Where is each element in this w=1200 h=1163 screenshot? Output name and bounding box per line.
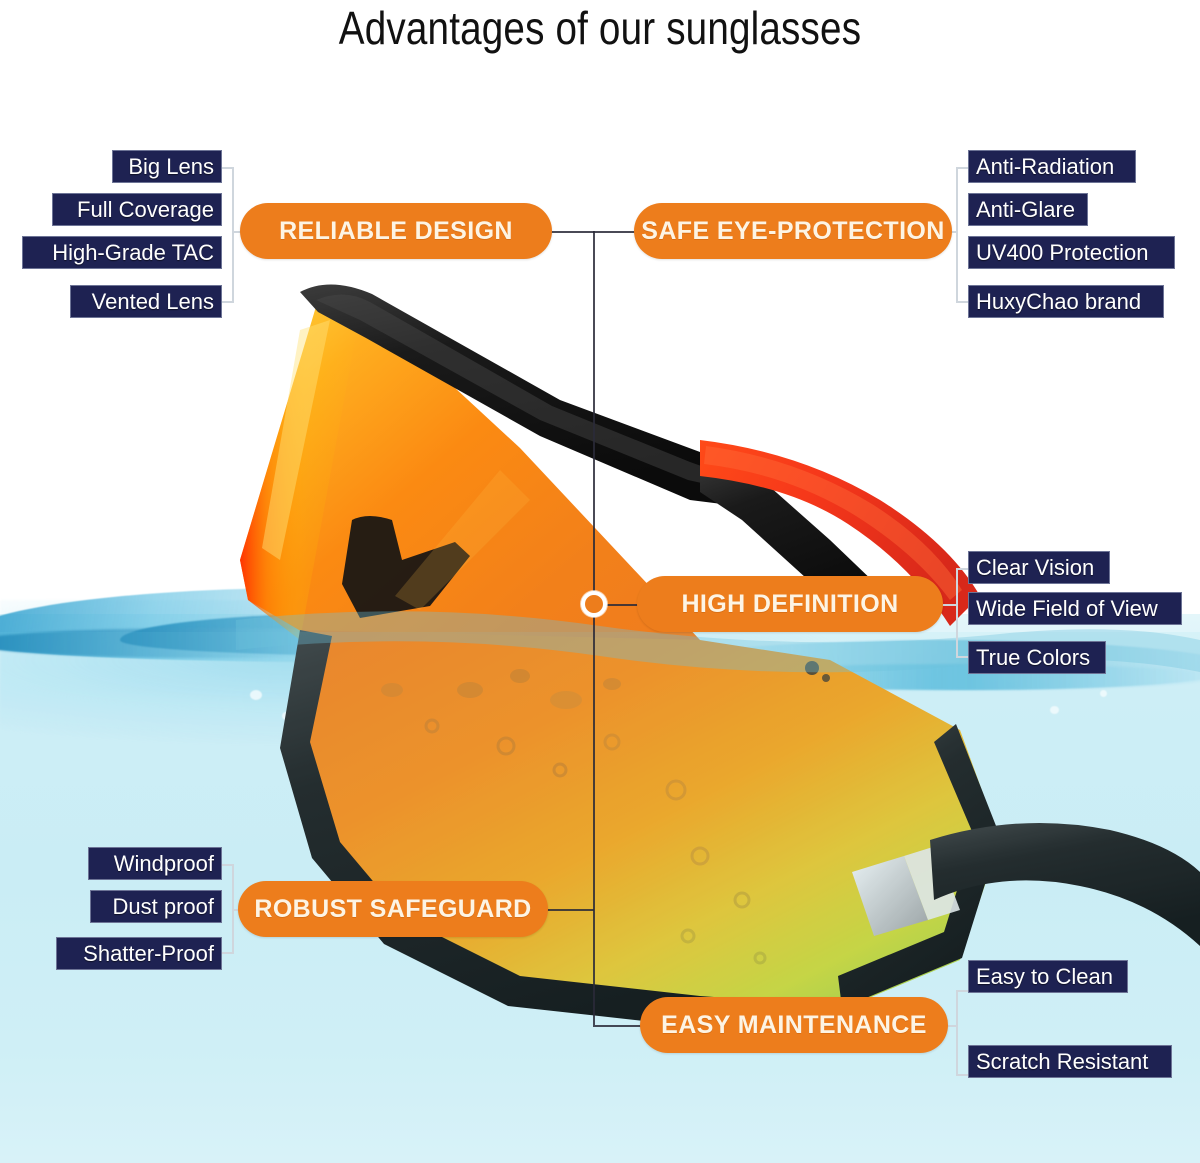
feature-chip-true-colors[interactable]: True Colors [968, 641, 1106, 674]
feature-chip-wide-field-of-view[interactable]: Wide Field of View [968, 592, 1182, 625]
bubble [355, 728, 365, 737]
feature-chip-clear-vision[interactable]: Clear Vision [968, 551, 1110, 584]
feature-chip-uv400-protection[interactable]: UV400 Protection [968, 236, 1175, 269]
pill-easy-maintenance[interactable]: EASY MAINTENANCE [640, 997, 948, 1053]
bracket-robust-safeguard [222, 864, 234, 954]
bracket-stub-high-definition [942, 604, 956, 606]
bubble [250, 690, 262, 700]
feature-chip-dust-proof[interactable]: Dust proof [90, 890, 222, 923]
pill-high-definition[interactable]: HIGH DEFINITION [637, 576, 943, 632]
bubble [1100, 690, 1107, 697]
feature-chip-windproof[interactable]: Windproof [88, 847, 222, 880]
feature-chip-shatter-proof[interactable]: Shatter-Proof [56, 937, 222, 970]
feature-chip-high-grade-tac[interactable]: High-Grade TAC [22, 236, 222, 269]
branch-easy-maintenance [593, 1025, 645, 1027]
pill-robust-safeguard[interactable]: ROBUST SAFEGUARD [238, 881, 548, 937]
pill-safe-eye-protection[interactable]: SAFE EYE-PROTECTION [634, 203, 952, 259]
center-spine [593, 231, 595, 1025]
water-glow [0, 600, 1200, 770]
bubble [282, 712, 290, 720]
bracket-safe-eye-protection [956, 167, 968, 303]
bubble [1050, 706, 1059, 714]
center-hub-dot [581, 591, 607, 617]
feature-chip-anti-glare[interactable]: Anti-Glare [968, 193, 1088, 226]
feature-chip-scratch-resistant[interactable]: Scratch Resistant [968, 1045, 1172, 1078]
branch-reliable-design [548, 231, 594, 233]
bracket-easy-maintenance [956, 990, 968, 1076]
feature-chip-huxychao-brand[interactable]: HuxyChao brand [968, 285, 1164, 318]
feature-chip-full-coverage[interactable]: Full Coverage [52, 193, 222, 226]
feature-chip-easy-to-clean[interactable]: Easy to Clean [968, 960, 1128, 993]
branch-robust-safeguard [545, 909, 594, 911]
feature-chip-vented-lens[interactable]: Vented Lens [70, 285, 222, 318]
infographic-canvas: Advantages of our sunglasses RELIABLE DE… [0, 0, 1200, 1163]
page-title: Advantages of our sunglasses [96, 2, 1104, 54]
bracket-reliable-design [222, 167, 234, 303]
feature-chip-anti-radiation[interactable]: Anti-Radiation [968, 150, 1136, 183]
feature-chip-big-lens[interactable]: Big Lens [112, 150, 222, 183]
pill-reliable-design[interactable]: RELIABLE DESIGN [240, 203, 552, 259]
bracket-high-definition [956, 568, 968, 658]
bubble [310, 700, 317, 706]
